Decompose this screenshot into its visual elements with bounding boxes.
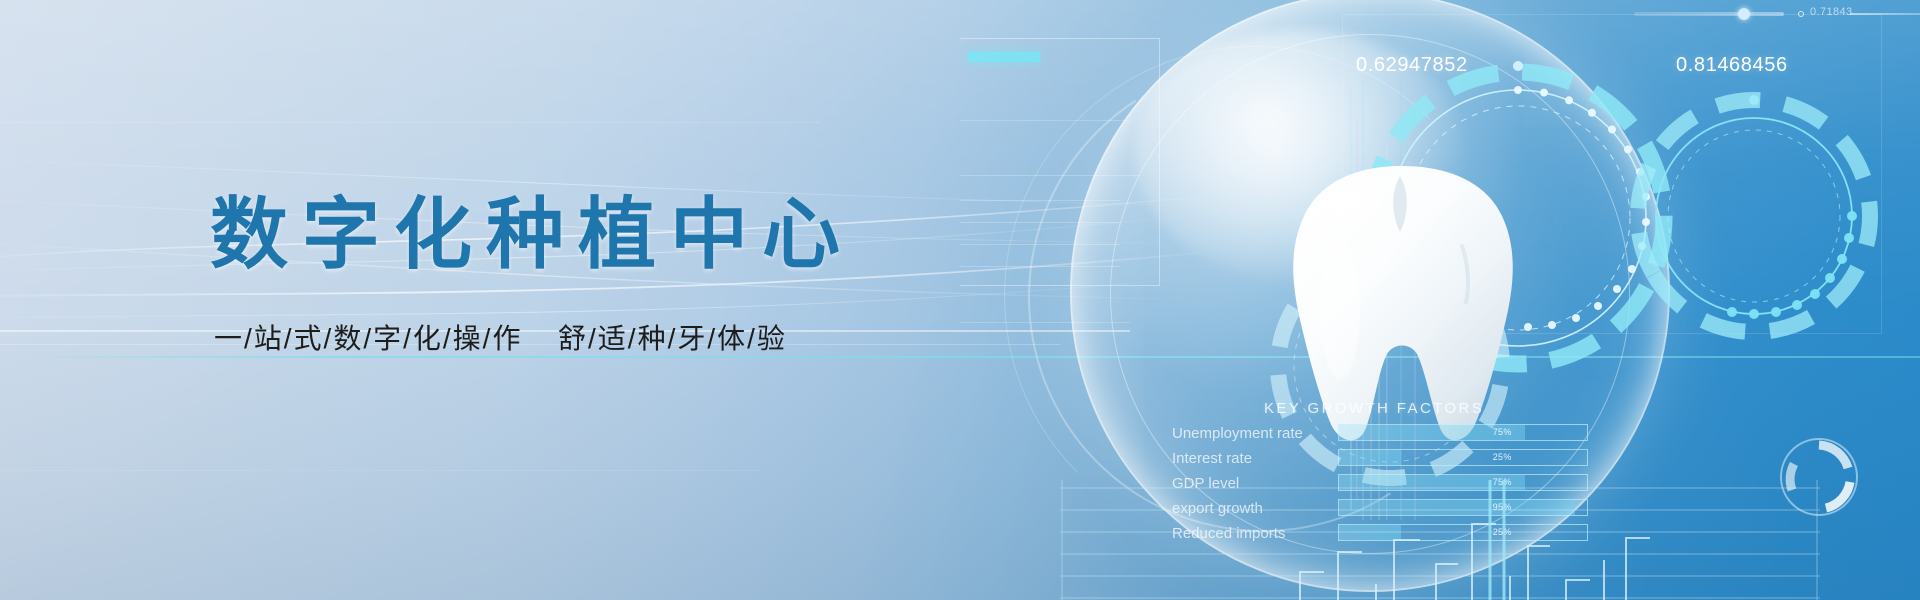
slider-marker-dot [1798, 11, 1804, 17]
chart-bar-track: 75% [1338, 424, 1588, 441]
circuit-pattern [1260, 480, 1680, 600]
slider-handle[interactable] [1738, 8, 1750, 20]
background-streak-3 [0, 122, 820, 123]
hud-value-left: 0.62947852 [1356, 54, 1468, 77]
chart-row: Interest rate 25% [1172, 449, 1592, 469]
chart-title: KEY GROWTH FACTORS [1264, 400, 1484, 417]
slider-tail-line [1850, 13, 1920, 15]
hero-text-block: 数字化种植中心 一/站/式/数/字/化/操/作 舒/适/种/牙/体/验 [210, 195, 854, 357]
page-subtitle: 一/站/式/数/字/化/操/作 舒/适/种/牙/体/验 [214, 317, 854, 357]
subtitle-part-2: 舒/适/种/牙/体/验 [558, 323, 787, 354]
slider-track[interactable] [1634, 12, 1784, 16]
loader-ring [1774, 432, 1864, 522]
chart-row: Unemployment rate 75% [1172, 424, 1592, 444]
hud-value-right: 0.81468456 [1676, 54, 1788, 77]
scan-ring-right [1624, 86, 1884, 346]
page-title: 数字化种植中心 [210, 195, 854, 273]
chart-bar-value: 25% [1493, 452, 1512, 462]
chart-bar-fill [1339, 450, 1401, 465]
cyan-indicator-tab [968, 52, 1040, 62]
slider-value-label: 0.71843 [1810, 6, 1853, 18]
hud-slider[interactable]: 0.71843 [1634, 8, 1884, 20]
background-streak-4 [0, 470, 760, 471]
subtitle-part-1: 一/站/式/数/字/化/操/作 [214, 323, 522, 354]
hero-banner: 数字化种植中心 一/站/式/数/字/化/操/作 舒/适/种/牙/体/验 [0, 0, 1920, 600]
chart-category-label: Interest rate [1172, 450, 1332, 467]
chart-category-label: Unemployment rate [1172, 425, 1332, 442]
hud-scene: 0.62947852 0.81468456 0.71843 [960, 0, 1920, 600]
chart-bar-value: 75% [1493, 427, 1512, 437]
chart-bar-track: 25% [1338, 449, 1588, 466]
